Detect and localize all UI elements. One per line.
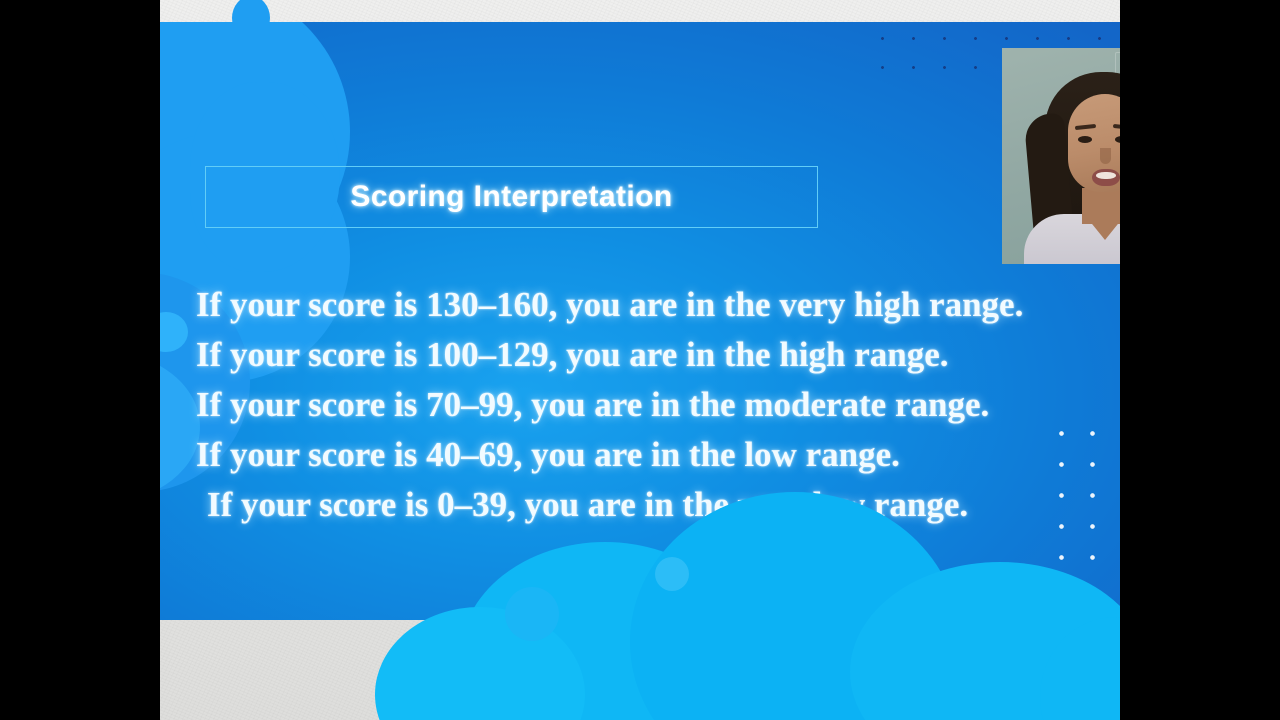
slide-title: Scoring Interpretation xyxy=(350,180,672,214)
slide-title-box: Scoring Interpretation xyxy=(205,166,818,228)
video-content-area: Scoring Interpretation If your score is … xyxy=(160,0,1120,720)
presentation-slide: Scoring Interpretation If your score is … xyxy=(160,22,1120,620)
webcam-mouth xyxy=(1092,169,1120,186)
screen: Scoring Interpretation If your score is … xyxy=(0,0,1280,720)
scoring-line-low: If your score is 40–69, you are in the l… xyxy=(196,430,1096,480)
decor-cloud-bubble-1 xyxy=(505,587,559,641)
scoring-line-very-low: If your score is 0–39, you are in the ve… xyxy=(196,480,1096,530)
scoring-line-moderate: If your score is 70–99, you are in the m… xyxy=(196,380,1096,430)
webcam-eye-left xyxy=(1078,136,1092,143)
decor-cloud-bubble-2 xyxy=(655,557,689,591)
presenter-webcam-thumbnail xyxy=(1002,48,1120,264)
scoring-line-very-high: If your score is 130–160, you are in the… xyxy=(196,280,1096,330)
slide-background: Scoring Interpretation If your score is … xyxy=(160,22,1120,620)
slide-body: If your score is 130–160, you are in the… xyxy=(196,280,1096,530)
scoring-line-high: If your score is 100–129, you are in the… xyxy=(196,330,1096,380)
webcam-nose xyxy=(1100,148,1111,164)
